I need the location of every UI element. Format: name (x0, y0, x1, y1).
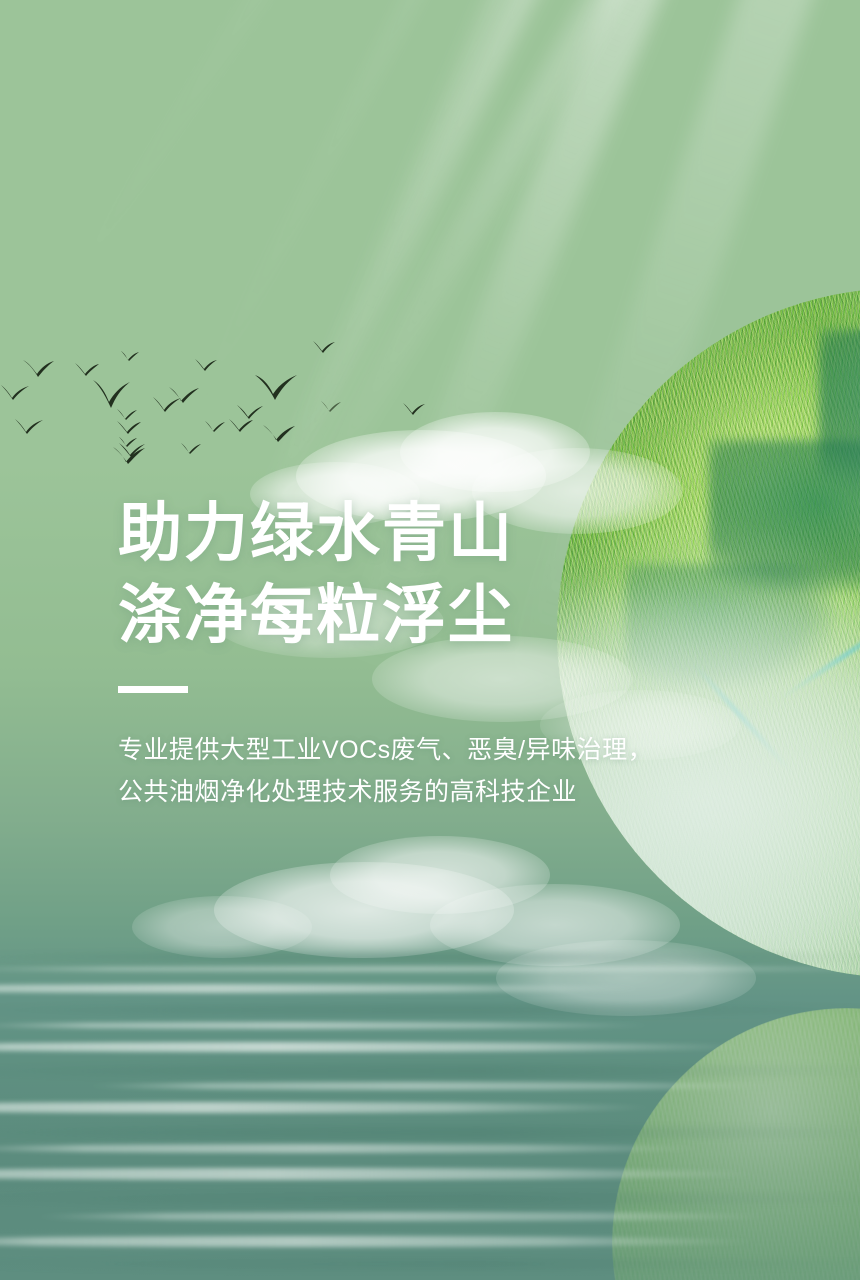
water-wave (0, 1144, 705, 1153)
banner-copy: 助力绿水青山 涤净每粒浮尘 专业提供大型工业VOCs废气、恶臭/异味治理， 公共… (118, 492, 738, 813)
water-wave (0, 1102, 654, 1113)
water-wave (34, 1212, 774, 1221)
eco-banner: 助力绿水青山 涤净每粒浮尘 专业提供大型工业VOCs废气、恶臭/异味治理， 公共… (0, 0, 860, 1280)
water-wave (0, 1064, 860, 1078)
water-wave (0, 952, 860, 962)
water-wave (0, 1192, 860, 1206)
subtitle-line-1: 专业提供大型工业VOCs废气、恶臭/异味治理， (118, 729, 738, 771)
headline-line-2: 涤净每粒浮尘 (118, 574, 738, 656)
water-wave (0, 1126, 860, 1139)
water-wave (0, 966, 860, 972)
water-surface (0, 930, 860, 1280)
water-wave (86, 1082, 774, 1090)
water-wave (0, 1168, 757, 1180)
water-wave (0, 1258, 860, 1270)
subtitle-line-2: 公共油烟净化处理技术服务的高科技企业 (118, 771, 738, 813)
water-wave (0, 1022, 654, 1029)
headline-line-1: 助力绿水青山 (118, 492, 738, 574)
water-wave (0, 1004, 860, 1016)
water-wave (0, 1236, 757, 1247)
water-wave (0, 984, 645, 993)
headline-divider (118, 686, 188, 693)
water-wave (0, 1042, 748, 1052)
